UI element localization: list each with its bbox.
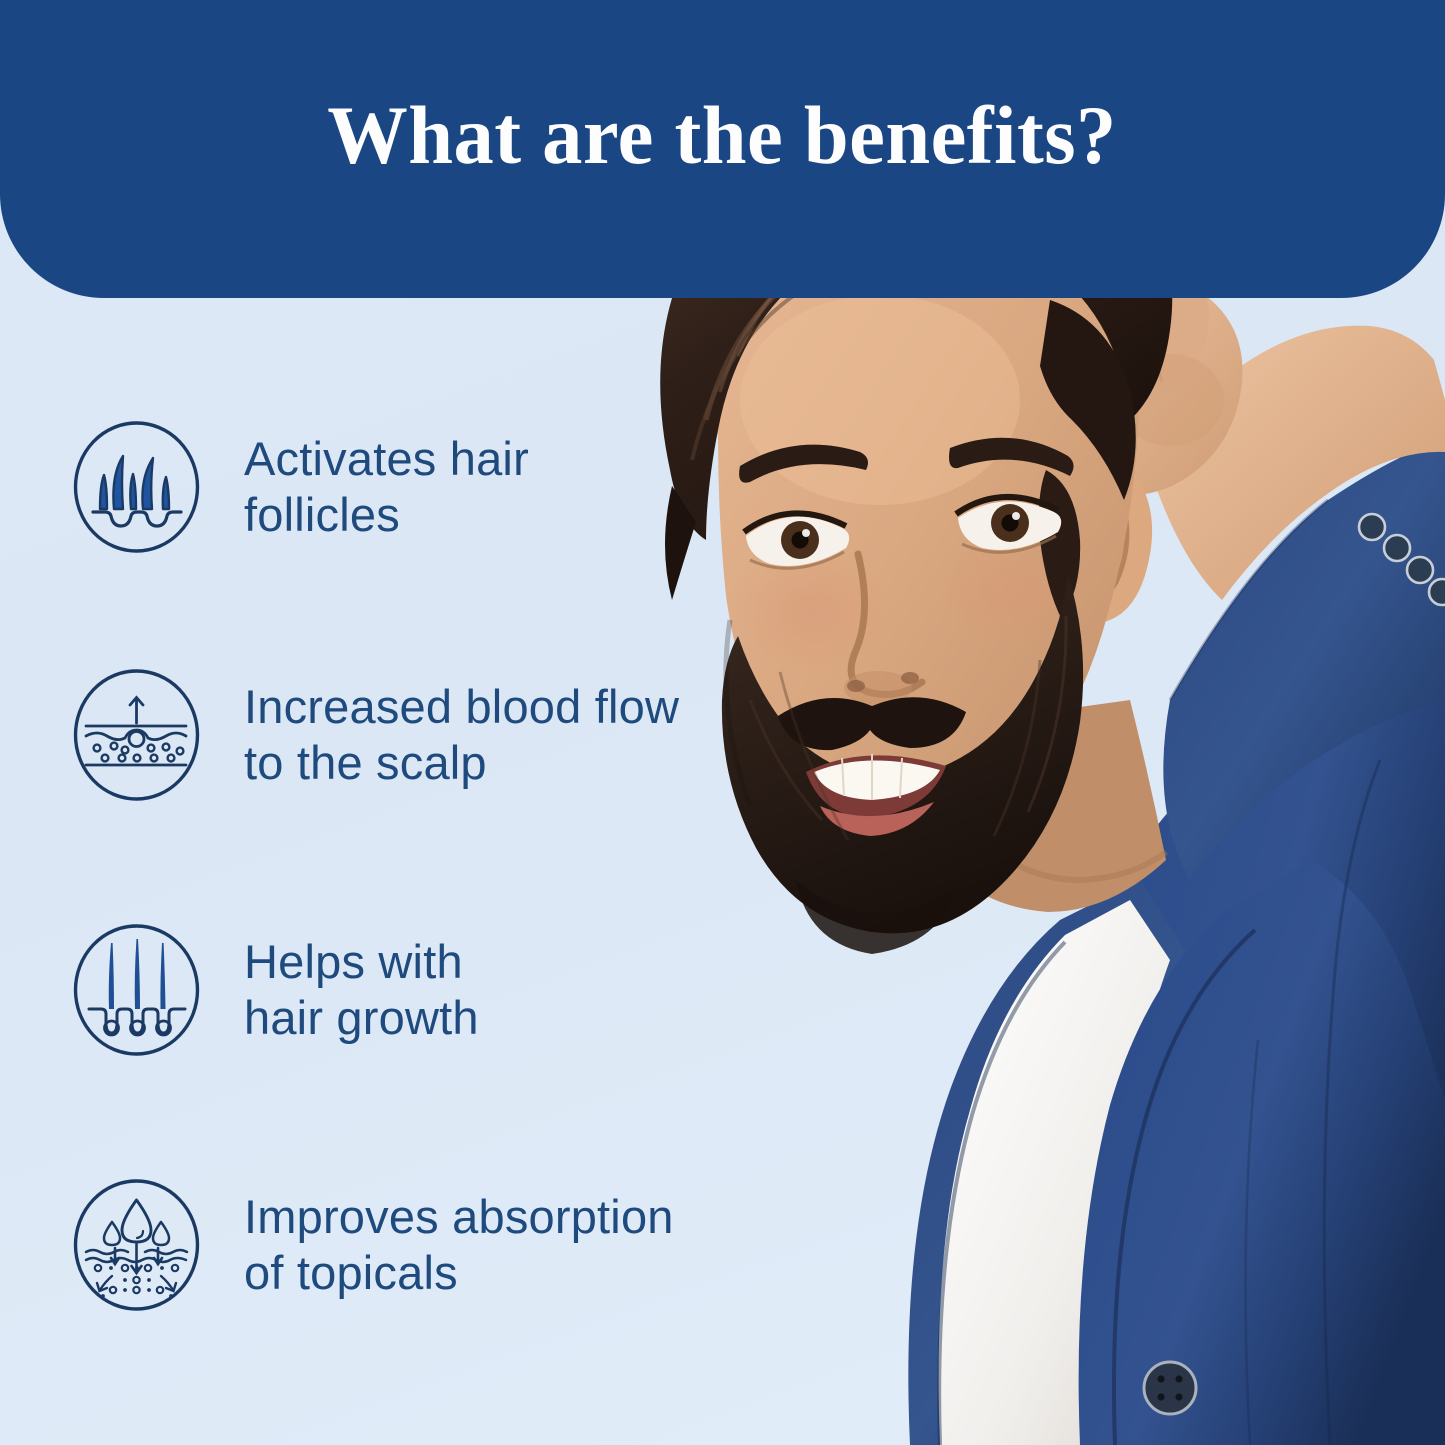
header-banner: What are the benefits? bbox=[0, 0, 1445, 298]
benefit-item-blood-flow: Increased blood flow to the scalp bbox=[73, 668, 679, 802]
hair-growth-icon bbox=[73, 923, 200, 1057]
benefit-label: Helps with hair growth bbox=[244, 934, 479, 1047]
topical-absorption-icon bbox=[73, 1178, 200, 1312]
benefit-item-absorption: Improves absorption of topicals bbox=[73, 1178, 674, 1312]
benefits-list: Activates hair follicles bbox=[0, 300, 800, 1445]
benefit-item-hair-growth: Helps with hair growth bbox=[73, 923, 479, 1057]
benefit-item-hair-follicles: Activates hair follicles bbox=[73, 420, 529, 554]
benefit-label-line2: of topicals bbox=[244, 1246, 458, 1299]
benefit-label: Activates hair follicles bbox=[244, 431, 529, 544]
benefit-label-line1: Activates hair bbox=[244, 432, 529, 485]
page-title: What are the benefits? bbox=[328, 94, 1118, 177]
hair-follicles-icon bbox=[73, 420, 200, 554]
benefits-infographic: What are the benefits? bbox=[0, 0, 1445, 1445]
benefit-label-line1: Helps with bbox=[244, 935, 463, 988]
benefit-label: Improves absorption of topicals bbox=[244, 1189, 674, 1302]
benefit-label-line2: hair growth bbox=[244, 991, 479, 1044]
benefit-label: Increased blood flow to the scalp bbox=[244, 679, 679, 792]
benefit-label-line1: Increased blood flow bbox=[244, 680, 679, 733]
benefit-label-line2: to the scalp bbox=[244, 736, 487, 789]
blazer-button bbox=[1144, 1362, 1196, 1414]
benefit-label-line1: Improves absorption bbox=[244, 1190, 674, 1243]
benefit-label-line2: follicles bbox=[244, 488, 400, 541]
blood-flow-scalp-icon bbox=[73, 668, 200, 802]
